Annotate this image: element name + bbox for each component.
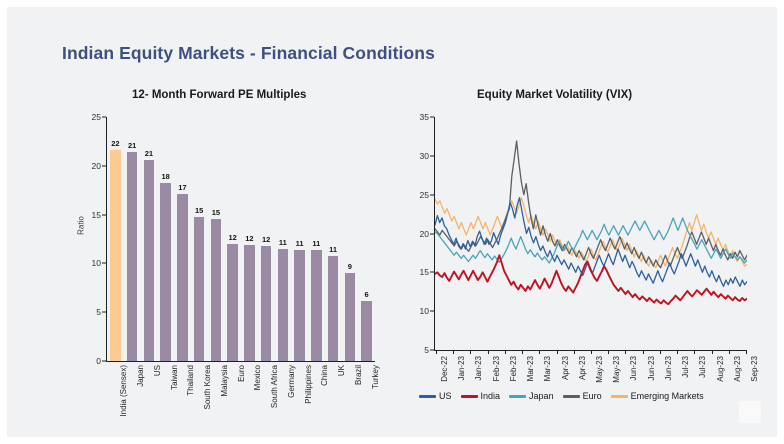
bar-value-label: 12 bbox=[228, 233, 236, 242]
vix-x-tick-mark bbox=[505, 350, 506, 354]
bar-value-label: 17 bbox=[178, 183, 186, 192]
vix-y-tick-label: 5 bbox=[424, 345, 429, 355]
bar-rect[interactable] bbox=[345, 273, 355, 361]
bar-value-label: 15 bbox=[212, 208, 220, 217]
bar-rect[interactable] bbox=[194, 217, 204, 361]
legend-swatch-icon bbox=[461, 395, 478, 398]
bar-rect[interactable] bbox=[177, 194, 187, 361]
bar-y-tick-mark bbox=[102, 165, 106, 166]
bar-y-tick-label: 0 bbox=[96, 356, 101, 366]
bar-column[interactable]: 11Germany bbox=[278, 117, 288, 361]
vix-x-tick-mark bbox=[591, 350, 592, 354]
bar-category-label: Germany bbox=[287, 365, 296, 398]
vix-y-tick-mark bbox=[430, 233, 434, 234]
vix-y-tick-label: 15 bbox=[420, 267, 429, 277]
bar-column[interactable]: 15South Korea bbox=[194, 117, 204, 361]
vix-x-tick-label: Mar-23 bbox=[543, 356, 552, 381]
vix-x-tick-label: Jun-23 bbox=[629, 356, 638, 380]
vix-y-tick-mark bbox=[430, 117, 434, 118]
bar-category-label: China bbox=[320, 365, 329, 386]
vix-x-tick-mark bbox=[746, 350, 747, 354]
bar-y-tick-label: 20 bbox=[92, 161, 101, 171]
bar-column[interactable]: 9Brazil bbox=[345, 117, 355, 361]
bar-y-tick-mark bbox=[102, 214, 106, 215]
bar-category-label: Japan bbox=[136, 365, 145, 387]
legend-label: Japan bbox=[529, 392, 554, 401]
bar-column[interactable]: 22India (Sensex) bbox=[110, 117, 120, 361]
bar-category-label: Mexico bbox=[253, 365, 262, 390]
bar-category-label: India (Sensex) bbox=[119, 365, 128, 417]
vix-y-tick-mark bbox=[430, 155, 434, 156]
bar-category-label: Taiwan bbox=[170, 365, 179, 390]
bar-column[interactable]: 21Japan bbox=[127, 117, 137, 361]
bar-category-label: Thailand bbox=[186, 365, 195, 396]
vix-x-tick-label: Aug-23 bbox=[716, 356, 725, 382]
vix-y-tick-mark bbox=[430, 194, 434, 195]
vix-x-tick-mark bbox=[712, 350, 713, 354]
legend-item[interactable]: US bbox=[419, 392, 452, 401]
bar-column[interactable]: 18Taiwan bbox=[160, 117, 170, 361]
vix-x-tick-label: Mar-23 bbox=[526, 356, 535, 381]
bar-column[interactable]: 12South Africa bbox=[261, 117, 271, 361]
bar-rect[interactable] bbox=[328, 256, 338, 361]
bar-rect[interactable] bbox=[278, 249, 288, 361]
vix-x-tick-mark bbox=[557, 350, 558, 354]
bar-column[interactable]: 12Mexico bbox=[244, 117, 254, 361]
legend-label: Euro bbox=[583, 392, 602, 401]
bar-rect[interactable] bbox=[244, 245, 254, 361]
bar-category-label: Euro bbox=[237, 365, 246, 382]
legend-swatch-icon bbox=[419, 395, 436, 398]
bar-column[interactable]: 15Malaysia bbox=[211, 117, 221, 361]
legend-swatch-icon bbox=[563, 395, 580, 398]
bar-category-label: South Africa bbox=[270, 365, 279, 408]
vix-x-tick-mark bbox=[677, 350, 678, 354]
bar-y-tick-mark bbox=[102, 263, 106, 264]
bar-category-label: Turkey bbox=[371, 365, 380, 389]
bar-category-label: UK bbox=[337, 365, 346, 376]
pe-multiples-bar-chart: Ratio 051015202522India (Sensex)21Japan2… bbox=[69, 111, 389, 431]
bar-category-label: Malaysia bbox=[220, 365, 229, 397]
page-title: Indian Equity Markets - Financial Condit… bbox=[62, 43, 435, 64]
vix-x-tick-label: May-23 bbox=[595, 356, 604, 383]
vix-plot-area: 5101520253035Dec-22Jan-23Jan-23Feb-23Feb… bbox=[435, 117, 747, 350]
vix-x-tick-label: Jan-23 bbox=[474, 356, 483, 380]
vix-series-line bbox=[435, 255, 747, 304]
vix-x-tick-label: Jun-23 bbox=[647, 356, 656, 380]
legend-item[interactable]: Euro bbox=[563, 392, 602, 401]
bar-column[interactable]: 11China bbox=[311, 117, 321, 361]
legend-item[interactable]: Emerging Markets bbox=[611, 392, 704, 401]
vix-x-tick-label: Jul-23 bbox=[681, 356, 690, 378]
vix-x-tick-label: Apr-23 bbox=[578, 356, 587, 380]
bar-y-tick-label: 10 bbox=[92, 258, 101, 268]
vix-x-tick-mark bbox=[694, 350, 695, 354]
vix-x-tick-mark bbox=[574, 350, 575, 354]
bar-value-label: 11 bbox=[329, 245, 337, 254]
legend-item[interactable]: Japan bbox=[509, 392, 554, 401]
bar-value-label: 11 bbox=[312, 239, 320, 248]
vix-series-canvas bbox=[435, 117, 747, 350]
vix-x-tick-mark bbox=[522, 350, 523, 354]
bar-value-label: 15 bbox=[195, 206, 203, 215]
vix-x-tick-label: Dec-22 bbox=[440, 356, 449, 382]
bar-rect[interactable] bbox=[311, 250, 321, 361]
bar-rect[interactable] bbox=[160, 183, 170, 361]
bar-column[interactable]: 12Euro bbox=[227, 117, 237, 361]
vix-x-tick-mark bbox=[643, 350, 644, 354]
vix-x-tick-mark bbox=[625, 350, 626, 354]
bar-rect[interactable] bbox=[127, 152, 137, 361]
bar-value-label: 12 bbox=[262, 235, 270, 244]
bar-rect[interactable] bbox=[361, 301, 371, 361]
vix-y-tick-label: 35 bbox=[420, 112, 429, 122]
bar-value-label: 12 bbox=[245, 234, 253, 243]
bar-value-label: 18 bbox=[161, 172, 169, 181]
vix-x-tick-mark bbox=[660, 350, 661, 354]
bar-category-label: Brazil bbox=[354, 365, 363, 385]
bar-y-tick-mark bbox=[102, 117, 106, 118]
vix-y-tick-mark bbox=[430, 272, 434, 273]
vix-x-tick-label: Aug-23 bbox=[733, 356, 742, 382]
vix-chart-title: Equity Market Volatility (VIX) bbox=[477, 89, 632, 101]
vix-y-tick-label: 20 bbox=[420, 229, 429, 239]
bar-rect[interactable] bbox=[227, 244, 237, 361]
vix-x-tick-label: Feb-23 bbox=[509, 356, 518, 381]
bar-column[interactable]: 17Thailand bbox=[177, 117, 187, 361]
bar-value-label: 21 bbox=[128, 141, 136, 150]
vix-y-tick-label: 10 bbox=[420, 306, 429, 316]
bar-y-axis-label: Ratio bbox=[77, 206, 86, 246]
bar-value-label: 21 bbox=[145, 149, 153, 158]
vix-x-tick-label: Jan-23 bbox=[457, 356, 466, 380]
vix-x-tick-label: Apr-23 bbox=[561, 356, 570, 380]
vix-x-tick-mark bbox=[470, 350, 471, 354]
legend-label: Emerging Markets bbox=[631, 392, 704, 401]
legend-label: US bbox=[439, 392, 452, 401]
bar-y-tick-label: 5 bbox=[96, 307, 101, 317]
legend-item[interactable]: India bbox=[461, 392, 501, 401]
bar-category-label: Philippines bbox=[304, 365, 313, 404]
bar-y-tick-mark bbox=[102, 361, 106, 362]
bar-plot-area: 051015202522India (Sensex)21Japan21US18T… bbox=[107, 117, 375, 361]
bar-value-label: 6 bbox=[365, 290, 369, 299]
legend-label: India bbox=[481, 392, 501, 401]
bar-column[interactable]: 11UK bbox=[328, 117, 338, 361]
bar-y-tick-label: 15 bbox=[92, 210, 101, 220]
vix-y-tick-mark bbox=[430, 311, 434, 312]
bar-value-label: 22 bbox=[111, 139, 119, 148]
bar-value-label: 9 bbox=[348, 262, 352, 271]
vix-x-tick-label: Sep-23 bbox=[750, 356, 759, 382]
bar-rect[interactable] bbox=[211, 219, 221, 361]
bar-value-label: 11 bbox=[279, 238, 287, 247]
watermark bbox=[739, 401, 761, 423]
bar-rect[interactable] bbox=[261, 246, 271, 361]
vix-x-tick-mark bbox=[453, 350, 454, 354]
bar-y-tick-label: 25 bbox=[92, 112, 101, 122]
bar-y-axis-line bbox=[106, 117, 107, 361]
bar-value-label: 11 bbox=[296, 239, 304, 248]
slide-canvas: Indian Equity Markets - Financial Condit… bbox=[7, 7, 777, 437]
bar-column[interactable]: 6Turkey bbox=[361, 117, 371, 361]
vix-y-tick-mark bbox=[430, 350, 434, 351]
legend-swatch-icon bbox=[509, 395, 526, 398]
vix-x-tick-mark bbox=[608, 350, 609, 354]
vix-x-tick-mark bbox=[729, 350, 730, 354]
vix-x-tick-label: May-23 bbox=[612, 356, 621, 383]
bar-rect[interactable] bbox=[144, 160, 154, 361]
vix-x-tick-label: Jun-23 bbox=[664, 356, 673, 380]
bar-column[interactable]: 11Philippines bbox=[294, 117, 304, 361]
bar-y-tick-mark bbox=[102, 312, 106, 313]
vix-legend: USIndiaJapanEuroEmerging Markets bbox=[419, 392, 704, 401]
bar-column[interactable]: 21US bbox=[144, 117, 154, 361]
vix-y-tick-label: 25 bbox=[420, 190, 429, 200]
vix-x-tick-mark bbox=[539, 350, 540, 354]
vix-line-chart: 5101520253035Dec-22Jan-23Jan-23Feb-23Feb… bbox=[405, 111, 757, 431]
bar-rect[interactable] bbox=[110, 150, 120, 361]
vix-x-tick-label: Feb-23 bbox=[492, 356, 501, 381]
bar-chart-title: 12- Month Forward PE Multiples bbox=[132, 89, 306, 101]
bar-rect[interactable] bbox=[294, 250, 304, 361]
vix-x-tick-mark bbox=[436, 350, 437, 354]
vix-x-tick-mark bbox=[488, 350, 489, 354]
vix-x-tick-label: Jul-23 bbox=[698, 356, 707, 378]
legend-swatch-icon bbox=[611, 395, 628, 398]
bar-category-label: US bbox=[153, 365, 162, 376]
vix-y-tick-label: 30 bbox=[420, 151, 429, 161]
bar-category-label: South Korea bbox=[203, 365, 212, 409]
